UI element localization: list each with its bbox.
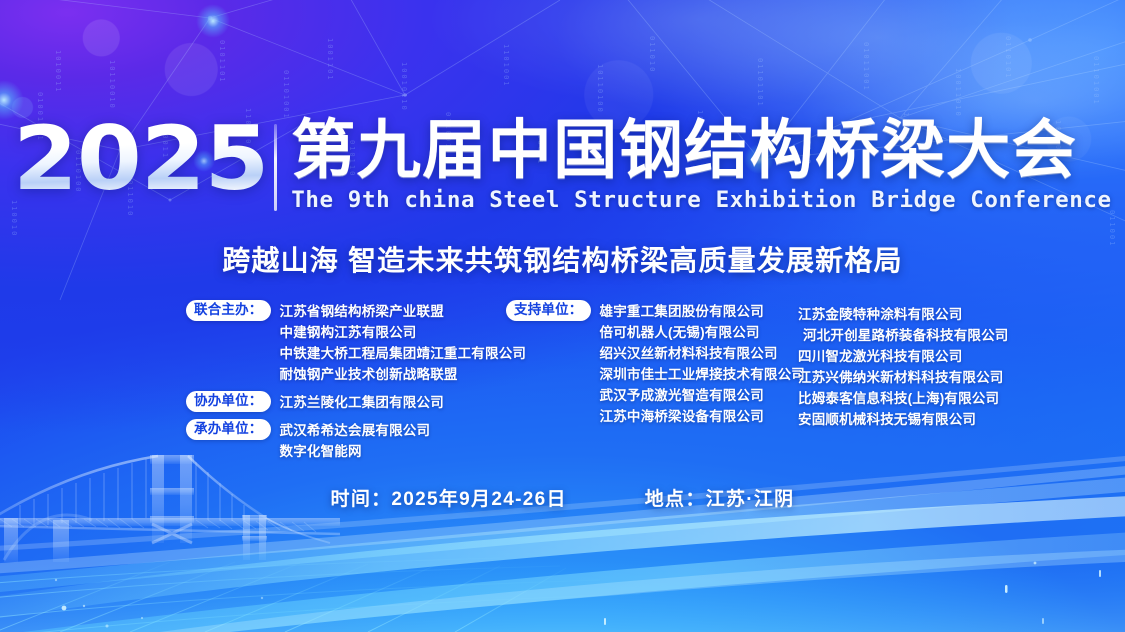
sponsor-group-host-units: 承办单位： 武汉希希达会展有限公司 数字化智能网	[186, 419, 506, 462]
svg-text:011010: 011010	[648, 36, 656, 73]
svg-text:10010110: 10010110	[400, 62, 408, 112]
main-title-english: The 9th china Steel Structure Exhibition…	[291, 187, 1111, 213]
svg-text:01101101: 01101101	[756, 58, 764, 108]
glow-node-left	[196, 4, 230, 38]
svg-text:0110101: 0110101	[1004, 36, 1012, 80]
sponsors-section: 联合主办： 江苏省钢结构桥梁产业联盟 中建钢构江苏有限公司 中铁建大桥工程局集团…	[186, 300, 1046, 462]
sponsor-name: 武汉希希达会展有限公司	[280, 420, 431, 441]
sponsor-label-pill: 支持单位：	[506, 300, 591, 321]
main-title-chinese: 第九届中国钢结构桥梁大会	[291, 118, 1111, 182]
sponsor-column-right: 江苏金陵特种涂料有限公司 河北开创星路桥装备科技有限公司 四川智龙激光科技有限公…	[798, 300, 1046, 430]
sponsor-name: 江苏兰陵化工集团有限公司	[280, 392, 444, 413]
sponsor-item-list: 雄宇重工集团股份有限公司 倍可机器人(无锡)有限公司 绍兴汉丝新材料科技有限公司…	[600, 300, 806, 427]
event-details: 时间：2025年9月24-26日 地点：江苏·江阴	[0, 484, 1125, 511]
sponsor-name: 中铁建大桥工程局集团靖江重工有限公司	[280, 343, 527, 364]
sponsor-name: 中建钢构江苏有限公司	[280, 322, 527, 343]
sponsor-label-pill: 协办单位：	[186, 391, 271, 412]
sponsor-name: 耐蚀钢产业技术创新战略联盟	[280, 364, 527, 385]
sponsor-name: 数字化智能网	[280, 441, 431, 462]
sponsor-column-middle: 支持单位： 雄宇重工集团股份有限公司 倍可机器人(无锡)有限公司 绍兴汉丝新材料…	[506, 300, 798, 427]
sponsor-name: 江苏中海桥梁设备有限公司	[600, 406, 806, 427]
sponsor-column-left: 联合主办： 江苏省钢结构桥梁产业联盟 中建钢构江苏有限公司 中铁建大桥工程局集团…	[186, 300, 506, 462]
sponsor-name: 四川智龙激光科技有限公司	[798, 346, 1046, 367]
sponsor-name: 深圳市佳士工业焊接技术有限公司	[600, 364, 806, 385]
svg-text:01101001: 01101001	[282, 70, 290, 120]
sponsor-name: 雄宇重工集团股份有限公司	[600, 301, 806, 322]
svg-text:0101101: 0101101	[218, 40, 226, 84]
sponsor-name: 比姆泰客信息科技(上海)有限公司	[798, 388, 1046, 409]
sponsor-group-co-organizers: 联合主办： 江苏省钢结构桥梁产业联盟 中建钢构江苏有限公司 中铁建大桥工程局集团…	[186, 300, 506, 385]
svg-text:01101001: 01101001	[1092, 56, 1100, 106]
sponsor-name: 江苏省钢结构桥梁产业联盟	[280, 301, 527, 322]
sponsor-name: 河北开创星路桥装备科技有限公司	[798, 325, 1046, 346]
headline-block: 2025 第九届中国钢结构桥梁大会 The 9th china Steel St…	[0, 118, 1125, 213]
sponsor-item-list: 江苏兰陵化工集团有限公司	[280, 391, 444, 413]
slogan-text: 跨越山海 智造未来共筑钢结构桥梁高质量发展新格局	[0, 239, 1125, 279]
svg-text:1001101: 1001101	[326, 38, 334, 82]
sponsor-name: 江苏金陵特种涂料有限公司	[798, 304, 1046, 325]
sponsor-item-list: 武汉希希达会展有限公司 数字化智能网	[280, 419, 431, 462]
svg-text:10011010: 10011010	[954, 68, 962, 118]
sponsor-name: 武汉予成激光智造有限公司	[600, 385, 806, 406]
sponsor-group-supporting-units: 协办单位： 江苏兰陵化工集团有限公司	[186, 391, 506, 413]
event-date: 时间：2025年9月24-26日	[331, 484, 567, 511]
svg-text:10110010: 10110010	[108, 60, 116, 110]
svg-text:1010011: 1010011	[54, 50, 62, 94]
sponsor-name: 倍可机器人(无锡)有限公司	[600, 322, 806, 343]
sponsor-item-list: 江苏金陵特种涂料有限公司 河北开创星路桥装备科技有限公司 四川智龙激光科技有限公…	[798, 300, 1046, 430]
event-location: 地点：江苏·江阴	[645, 484, 795, 511]
svg-text:10110100: 10110100	[596, 64, 604, 114]
sponsor-group-sponsor-units: 支持单位： 雄宇重工集团股份有限公司 倍可机器人(无锡)有限公司 绍兴汉丝新材料…	[506, 300, 798, 427]
conference-poster: 01001101 1010011 0110100 10110010 011010…	[0, 0, 1125, 632]
sponsor-name: 江苏兴佛纳米新材料科技有限公司	[798, 367, 1046, 388]
year-number: 2025	[13, 118, 275, 200]
sponsor-label-pill: 承办单位：	[186, 419, 271, 440]
sponsor-label-pill: 联合主办：	[186, 300, 271, 321]
sponsor-item-list: 江苏省钢结构桥梁产业联盟 中建钢构江苏有限公司 中铁建大桥工程局集团靖江重工有限…	[280, 300, 527, 385]
sponsor-name: 安固顺机械科技无锡有限公司	[798, 409, 1046, 430]
svg-text:01011001: 01011001	[862, 42, 870, 92]
sponsor-name: 绍兴汉丝新材料科技有限公司	[600, 343, 806, 364]
svg-text:1101001: 1101001	[502, 44, 510, 88]
